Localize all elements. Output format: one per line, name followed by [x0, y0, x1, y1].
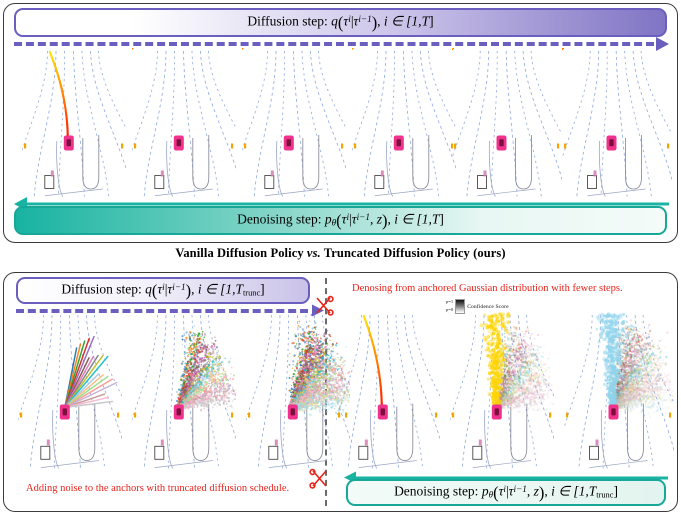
- T-bl: T: [235, 281, 243, 296]
- banner-denoising-text-truncated: Denoising step: pθ(τi|τi−1, z), i ∈ [1,T…: [394, 483, 618, 503]
- banner-diffusion-step-truncated: Diffusion step: q(τi|τi−1), i ∈ [1,Ttrun…: [16, 277, 310, 304]
- comma-bl: ,: [191, 281, 194, 296]
- scene-truncated-denoise-1: [336, 312, 440, 470]
- i-range-bl: i ∈ [1,: [198, 281, 236, 296]
- comma-top: ,: [377, 13, 380, 28]
- banner-diffusion-text-vanilla: Diffusion step: q(τi|τi−1), i ∈ [1,T]: [247, 13, 433, 33]
- close-bl: ]: [260, 281, 265, 296]
- T-trunc-sub-br: trunc: [596, 490, 613, 499]
- T-top: T: [422, 13, 430, 28]
- i-range-top: i ∈ [1,: [384, 13, 422, 28]
- q-fn-top: q: [331, 13, 338, 28]
- denoise-label-top: Denoising step:: [237, 211, 321, 226]
- confidence-score-legend: p=1 p=0 Confidence Score: [446, 299, 509, 314]
- legend-ticks: p=1 p=0: [446, 300, 453, 313]
- tau-dn-sup-i1: i−1: [357, 211, 370, 221]
- vs-caption-italic: vs.: [307, 246, 321, 260]
- legend-tick-bottom: p=0: [446, 308, 453, 313]
- i-range-br: i ∈ [1,: [551, 483, 589, 498]
- denoise-label-br: Denoising step:: [394, 483, 478, 498]
- close-top: ]: [429, 13, 434, 28]
- diffusion-label-top: Diffusion step:: [247, 13, 327, 28]
- tau-sup-i1-top: i−1: [358, 13, 371, 23]
- banner-denoising-step-truncated: Denoising step: pθ(τi|τi−1, z), i ∈ [1,T…: [346, 479, 666, 506]
- figure-root: Diffusion step: q(τi|τi−1), i ∈ [1,T] De…: [0, 0, 681, 515]
- scene-vanilla-step-4: [352, 48, 456, 198]
- scene-vanilla-step-3: [242, 48, 346, 198]
- T-trunc-sub-bl: trunc: [243, 288, 260, 297]
- p-fn-top: p: [325, 211, 332, 226]
- scene-vanilla-step-6: [562, 48, 672, 198]
- legend-gradient-bar: [455, 299, 465, 314]
- legend-label: Confidence Score: [467, 304, 509, 310]
- legend-tick-top: p=1: [446, 300, 453, 305]
- scene-truncated-noise-3: [246, 312, 350, 470]
- scene-truncated-noise-2: [132, 312, 236, 470]
- banner-denoising-text-vanilla: Denoising step: pθ(τi|τi−1, z), i ∈ [1,T…: [237, 211, 444, 231]
- scene-vanilla-step-5: [452, 48, 562, 198]
- comma-dn-1: ,: [370, 211, 373, 226]
- note-adding-noise: Adding noise to the anchors with truncat…: [26, 483, 289, 494]
- scene-truncated-denoise-2: [450, 312, 554, 470]
- tau-br-sup-i1: i−1: [514, 483, 527, 493]
- vs-caption-before: Vanilla Diffusion Policy: [175, 246, 307, 260]
- p-fn-br: p: [482, 483, 489, 498]
- comma-br-1: ,: [527, 483, 530, 498]
- note-denoising-anchored: Denosing from anchored Gaussian distribu…: [352, 283, 623, 294]
- vs-caption: Vanilla Diffusion Policy vs. Truncated D…: [0, 246, 681, 261]
- diffusion-label-bl: Diffusion step:: [61, 281, 141, 296]
- scene-truncated-noise-1: [18, 312, 122, 470]
- arrow-diffusion-forward-truncated: [16, 305, 324, 317]
- comma-br-2: ,: [544, 483, 547, 498]
- i-range-dn: i ∈ [1,: [394, 211, 432, 226]
- tau-bl-sup-i1: i−1: [172, 281, 185, 291]
- scissors-icon: [309, 468, 329, 495]
- comma-dn-2: ,: [387, 211, 390, 226]
- vs-caption-after: Truncated Diffusion Policy (ours): [321, 246, 506, 260]
- banner-denoising-step-vanilla: Denoising step: pθ(τi|τi−1, z), i ∈ [1,T…: [14, 206, 667, 235]
- close-br: ]: [613, 483, 618, 498]
- scene-vanilla-step-1: [22, 48, 126, 198]
- arrow-diffusion-forward: [14, 38, 669, 50]
- scene-truncated-denoise-3: [564, 312, 674, 470]
- close-dn: ]: [439, 211, 444, 226]
- banner-diffusion-text-truncated: Diffusion step: q(τi|τi−1), i ∈ [1,Ttrun…: [61, 281, 264, 301]
- banner-diffusion-step-vanilla: Diffusion step: q(τi|τi−1), i ∈ [1,T]: [14, 8, 667, 37]
- q-fn-bl: q: [145, 281, 152, 296]
- scissors-icon: [314, 295, 334, 322]
- scene-vanilla-step-2: [132, 48, 236, 198]
